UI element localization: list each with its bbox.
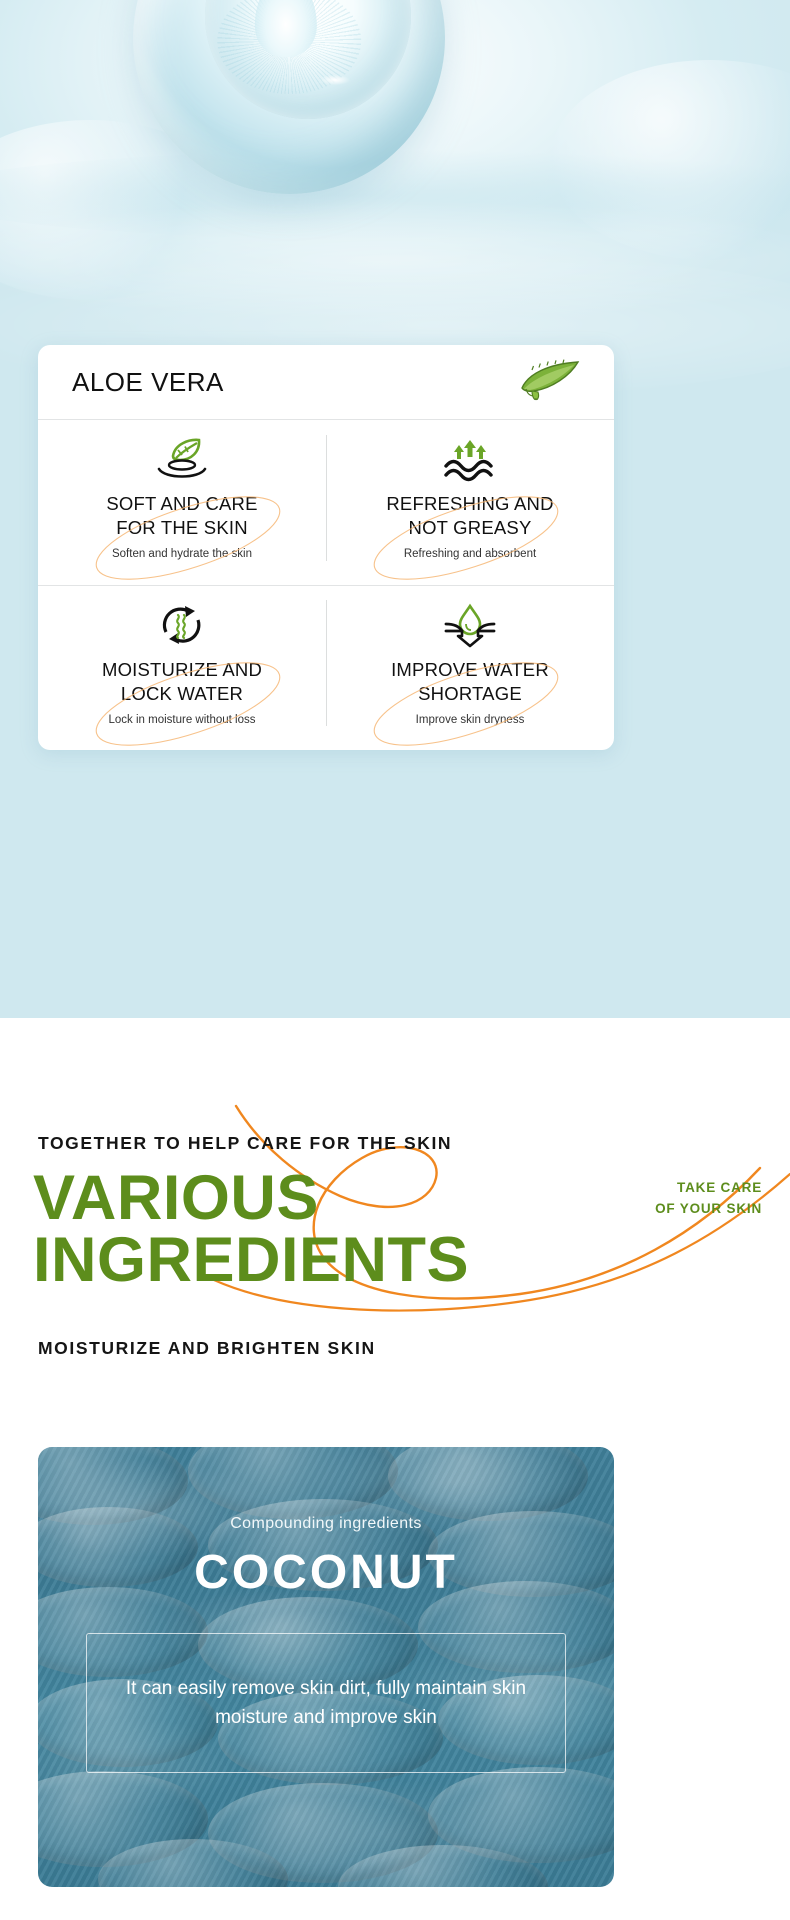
feature-title-line1: MOISTURIZE AND [102, 659, 262, 680]
page-title: ALOE VERA [72, 367, 224, 398]
feature-title-line2: SHORTAGE [418, 683, 522, 704]
take-care-line-1: TAKE CARE [655, 1178, 762, 1199]
ingredients-section: TOGETHER TO HELP CARE FOR THE SKIN VARIO… [0, 1018, 790, 1448]
coconut-description-box: It can easily remove skin dirt, fully ma… [86, 1633, 566, 1773]
feature-desc: Lock in moisture without loss [108, 714, 255, 726]
feature-cell-moisturize: MOISTURIZE AND LOCK WATER Lock in moistu… [38, 586, 326, 750]
take-care-line-2: OF YOUR SKIN [655, 1199, 762, 1220]
feature-title: IMPROVE WATER SHORTAGE [391, 658, 549, 706]
section-headline: VARIOUS INGREDIENTS [33, 1168, 469, 1291]
recycle-moisture-icon [154, 602, 210, 648]
aloe-vera-card: ALOE VERA [38, 345, 614, 750]
feature-title: REFRESHING AND NOT GREASY [386, 492, 553, 540]
feature-cell-soft-and-care: SOFT AND CARE FOR THE SKIN Soften and hy… [38, 420, 326, 585]
card-column-divider [326, 600, 327, 726]
headline-line-1: VARIOUS [33, 1168, 469, 1230]
coconut-eyebrow: Compounding ingredients [38, 1515, 614, 1533]
feature-cell-improve-water: IMPROVE WATER SHORTAGE Improve skin dryn… [326, 586, 614, 750]
feature-title-line2: FOR THE SKIN [116, 517, 248, 538]
coconut-description: It can easily remove skin dirt, fully ma… [113, 1674, 539, 1733]
leaf-on-ripples-icon [149, 436, 215, 482]
coconut-title: COCONUT [38, 1545, 614, 1600]
section-eyebrow: TOGETHER TO HELP CARE FOR THE SKIN [38, 1133, 452, 1154]
aloe-card-header: ALOE VERA [38, 345, 614, 420]
coconut-panel: Compounding ingredients COCONUT It can e… [38, 1447, 614, 1887]
hero-section: ALOE VERA [0, 0, 790, 1018]
water-droplet-image [133, 0, 445, 194]
card-column-divider [326, 435, 327, 561]
feature-title: MOISTURIZE AND LOCK WATER [102, 658, 262, 706]
droplet-highlight [320, 75, 350, 85]
aloe-leaf-icon [514, 358, 586, 406]
feature-title: SOFT AND CARE FOR THE SKIN [106, 492, 257, 540]
take-care-badge: TAKE CARE OF YOUR SKIN [655, 1178, 762, 1220]
feature-cell-refreshing: REFRESHING AND NOT GREASY Refreshing and… [326, 420, 614, 585]
feature-title-line2: LOCK WATER [121, 683, 243, 704]
arrows-over-waves-icon [437, 436, 503, 482]
section-subtitle: MOISTURIZE AND BRIGHTEN SKIN [38, 1338, 376, 1359]
droplet-absorb-icon [440, 602, 500, 648]
feature-desc: Improve skin dryness [416, 714, 525, 726]
feature-title-line1: SOFT AND CARE [106, 493, 257, 514]
droplet-core [255, 0, 317, 57]
headline-line-2: INGREDIENTS [33, 1230, 469, 1292]
feature-title-line1: IMPROVE WATER [391, 659, 549, 680]
feature-desc: Refreshing and absorbent [404, 548, 536, 560]
feature-title-line2: NOT GREASY [409, 517, 532, 538]
feature-grid: SOFT AND CARE FOR THE SKIN Soften and hy… [38, 420, 614, 750]
feature-desc: Soften and hydrate the skin [112, 548, 252, 560]
feature-title-line1: REFRESHING AND [386, 493, 553, 514]
